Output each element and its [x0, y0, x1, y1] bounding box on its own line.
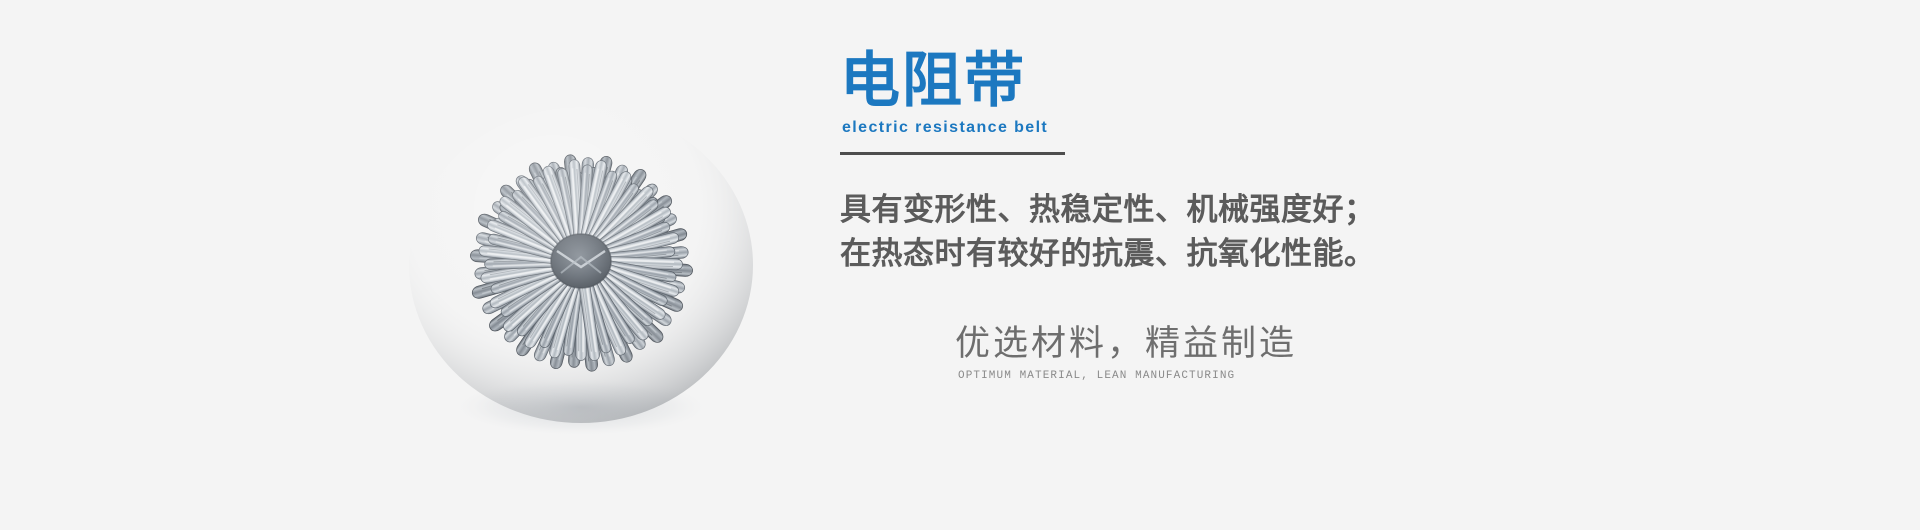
tagline-zh: 优选材料，精益制造 — [955, 322, 1375, 366]
resistance-belt-illustration — [385, 85, 775, 445]
tagline-en: OPTIMUM MATERIAL, LEAN MANUFACTURING — [958, 369, 1375, 383]
page-title: 电阻带 — [840, 48, 1026, 114]
description-line-2: 在热态时有较好的抗震、抗氧化性能。 — [840, 232, 1540, 276]
page-subtitle: electric resistance belt — [842, 118, 1048, 138]
text-column: 电阻带 electric resistance belt 具有变形性、热稳定性、… — [840, 0, 1840, 530]
title-divider — [840, 152, 1065, 155]
tagline-block: 优选材料，精益制造 OPTIMUM MATERIAL, LEAN MANUFAC… — [955, 322, 1375, 383]
product-image-stage — [385, 85, 775, 445]
product-banner: 电阻带 electric resistance belt 具有变形性、热稳定性、… — [0, 0, 1920, 530]
description-line-1: 具有变形性、热稳定性、机械强度好； — [840, 188, 1540, 232]
product-image — [385, 85, 775, 445]
product-description: 具有变形性、热稳定性、机械强度好； 在热态时有较好的抗震、抗氧化性能。 — [840, 188, 1540, 276]
